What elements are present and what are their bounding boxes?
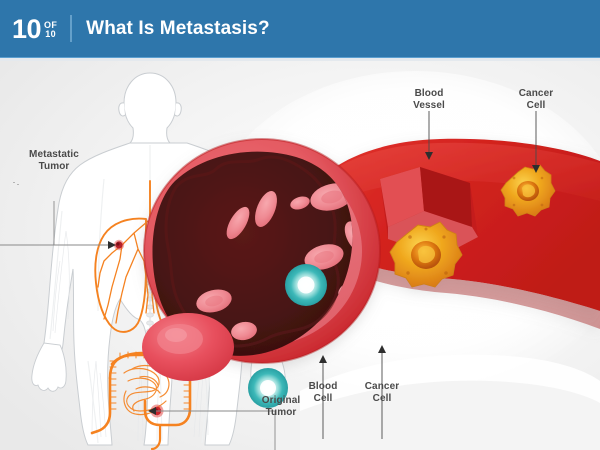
label-cancer-cell-top: Cancer Cell: [505, 88, 567, 112]
label-cancer-cell-bottom: Cancer Cell: [356, 381, 408, 405]
label-blood-cell: Blood Cell: [297, 381, 349, 405]
page-title: What Is Metastasis?: [86, 18, 270, 40]
slide-counter-fraction: OF 10: [44, 21, 57, 40]
slide-number: 10: [12, 16, 41, 42]
slide-counter: 10 OF 10: [12, 16, 57, 42]
escaping-blood-cell: [142, 313, 234, 381]
label-metastatic-tumor: Metastatic Tumor: [10, 149, 98, 173]
slide-header: 10 OF 10 What Is Metastasis?: [0, 0, 600, 57]
label-blood-vessel: Blood Vessel: [398, 88, 460, 112]
infographic-slide: 10 OF 10 What Is Metastasis?: [0, 0, 600, 450]
slide-total: 10: [45, 30, 56, 40]
header-divider: [70, 15, 72, 42]
